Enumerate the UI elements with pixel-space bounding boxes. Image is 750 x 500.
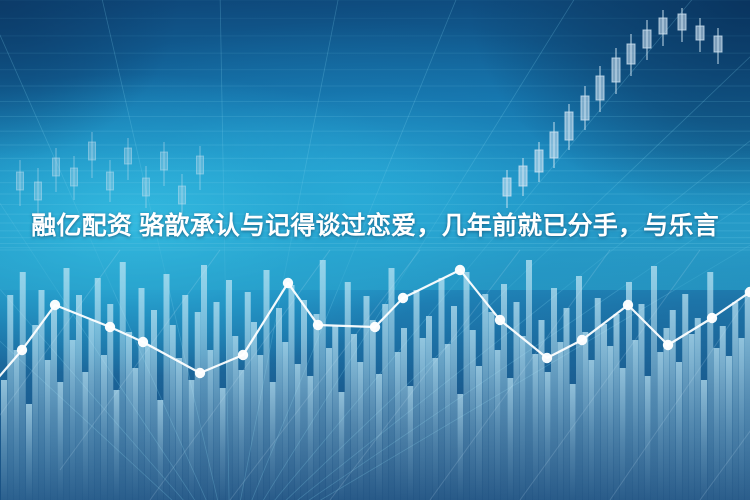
trend-line-chart: [0, 0, 750, 500]
stock-market-banner: 融亿配资 骆歆承认与记得谈过恋爱，几年前就已分手，与乐言: [0, 0, 750, 500]
banner-title: 融亿配资 骆歆承认与记得谈过恋爱，几年前就已分手，与乐言: [0, 206, 750, 247]
banner-title-line-1: 融亿配资 骆歆承认与记得谈过恋爱，几年前就已分手，与乐言: [31, 212, 719, 240]
